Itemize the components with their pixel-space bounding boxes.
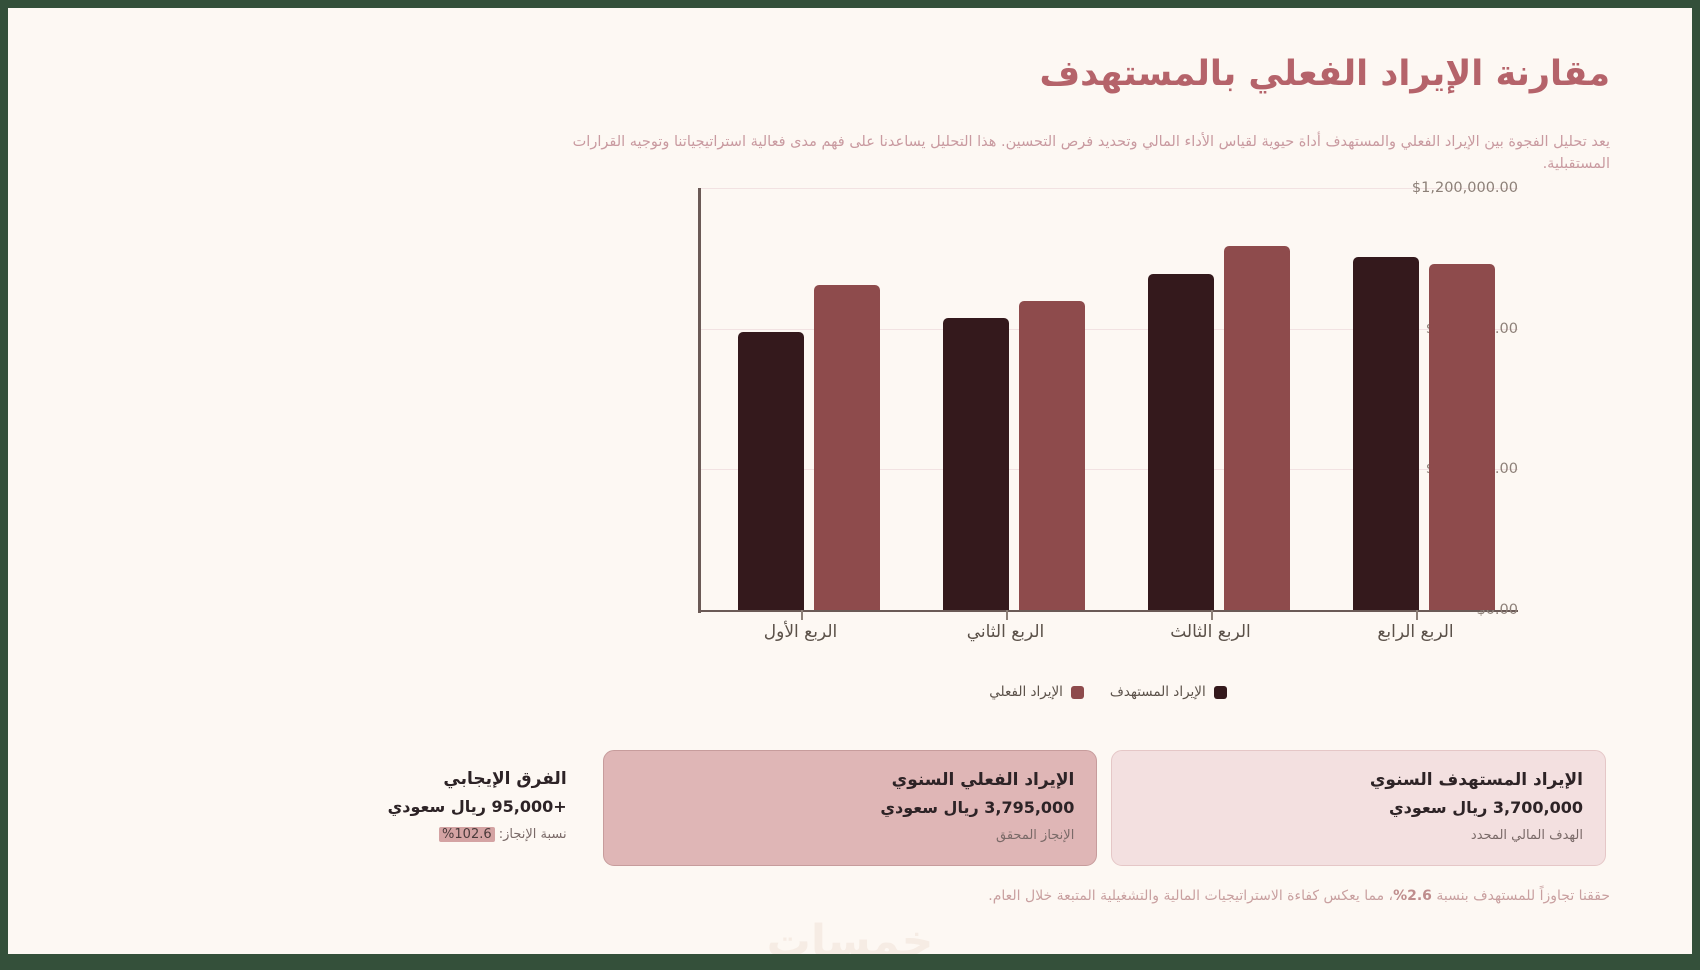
chart-legend: الإيراد المستهدفالإيراد الفعلي <box>698 684 1518 700</box>
bar-target-q4[interactable] <box>1353 257 1419 610</box>
x-axis-line <box>698 610 1518 612</box>
x-axis-label-q3: الربع الثالث <box>1170 622 1251 642</box>
x-axis-tick <box>1416 610 1418 620</box>
legend-label: الإيراد المستهدف <box>1110 684 1206 700</box>
footer-highlight-percent: 2.6% <box>1393 888 1432 904</box>
revenue-comparison-chart: $1,200,000.00$800,000.00$400,000.00$0.00… <box>698 188 1518 610</box>
bar-actual-q1[interactable] <box>814 285 880 610</box>
legend-item-target[interactable]: الإيراد المستهدف <box>1110 684 1227 700</box>
bar-actual-q2[interactable] <box>1019 301 1085 610</box>
bar-target-q2[interactable] <box>943 318 1009 610</box>
bar-target-q1[interactable] <box>738 332 804 610</box>
legend-swatch-icon <box>1071 686 1084 699</box>
legend-swatch-icon <box>1214 686 1227 699</box>
outer-frame: مقارنة الإيراد الفعلي بالمستهدف يعد تحلي… <box>0 0 1700 970</box>
bar-target-q3[interactable] <box>1148 274 1214 610</box>
footer-summary-note: حققنا تجاوزاً للمستهدف بنسبة 2.6%، مما ي… <box>510 888 1610 904</box>
legend-item-actual[interactable]: الإيراد الفعلي <box>989 684 1084 700</box>
achievement-percent-badge: 102.6% <box>439 827 495 842</box>
kpi-card-note: الإنجاز المحقق <box>626 828 1075 845</box>
x-axis-tick <box>1211 610 1213 620</box>
kpi-card-note: نسبة الإنجاز: 102.6% <box>118 827 567 844</box>
kpi-card-actual[interactable]: الإيراد الفعلي السنوي3,795,000 ريال سعود… <box>603 750 1098 866</box>
page-subtitle: يعد تحليل الفجوة بين الإيراد الفعلي والم… <box>570 132 1610 176</box>
x-axis-tick <box>1006 610 1008 620</box>
kpi-card-value: 3,795,000 ريال سعودي <box>626 797 1075 819</box>
bar-actual-q4[interactable] <box>1429 264 1495 610</box>
kpi-card-row: الإيراد المستهدف السنوي3,700,000 ريال سع… <box>96 750 1606 866</box>
kpi-card-value: +95,000 ريال سعودي <box>118 796 567 818</box>
kpi-card-difference[interactable]: الفرق الإيجابي+95,000 ريال سعودينسبة الإ… <box>96 750 589 866</box>
report-page: مقارنة الإيراد الفعلي بالمستهدف يعد تحلي… <box>8 8 1692 954</box>
bar-actual-q3[interactable] <box>1224 246 1290 610</box>
page-title: مقارنة الإيراد الفعلي بالمستهدف <box>1039 54 1610 94</box>
x-axis-label-q4: الربع الرابع <box>1377 622 1453 642</box>
kpi-card-title: الفرق الإيجابي <box>118 768 567 790</box>
x-axis-tick <box>801 610 803 620</box>
kpi-card-note: الهدف المالي المحدد <box>1134 828 1583 845</box>
watermark: خمسات <box>8 916 1692 954</box>
kpi-card-value: 3,700,000 ريال سعودي <box>1134 797 1583 819</box>
x-axis-label-q1: الربع الأول <box>764 622 837 642</box>
kpi-card-target[interactable]: الإيراد المستهدف السنوي3,700,000 ريال سع… <box>1111 750 1606 866</box>
x-axis-label-q2: الربع الثاني <box>967 622 1045 642</box>
legend-label: الإيراد الفعلي <box>989 684 1063 700</box>
kpi-card-title: الإيراد الفعلي السنوي <box>626 769 1075 791</box>
kpi-card-title: الإيراد المستهدف السنوي <box>1134 769 1583 791</box>
chart-plot-area <box>698 188 1518 610</box>
